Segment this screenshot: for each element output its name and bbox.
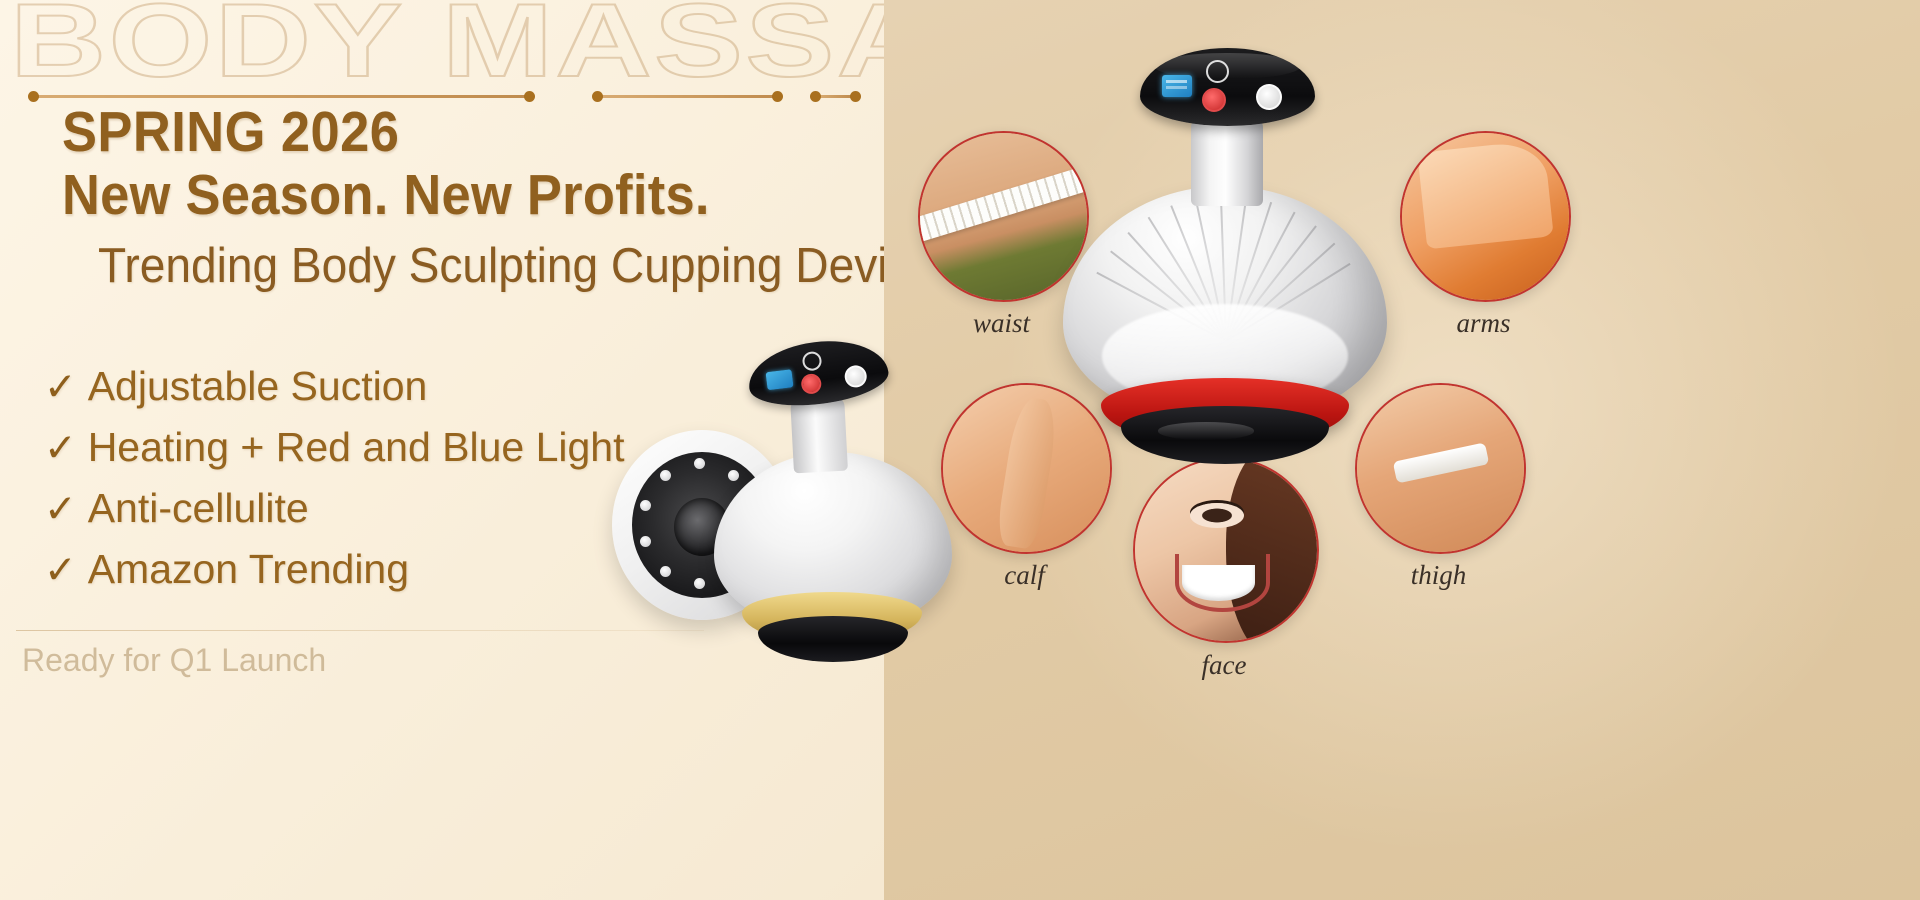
divider-segment [600, 95, 778, 98]
secondary-device-neck [790, 395, 848, 474]
product-tagline: Trending Body Sculpting Cupping Device [98, 238, 888, 294]
led-icon [660, 566, 671, 577]
face-photo [1135, 459, 1317, 641]
promo-banner: BODY MASSAGER SPRING 2026 New Season. Ne… [0, 0, 1920, 900]
lips-shape [1175, 554, 1270, 613]
red-light-button-icon [800, 373, 822, 395]
feature-label: Anti-cellulite [88, 478, 309, 539]
headline-block: SPRING 2026 New Season. New Profits. [62, 103, 816, 224]
thigh-band [1393, 442, 1489, 483]
zone-photo-arms [1400, 131, 1571, 302]
divider-dot [592, 91, 603, 102]
divider-dot [28, 91, 39, 102]
power-button-icon [1206, 60, 1229, 83]
red-light-button-icon [1202, 88, 1226, 112]
divider-dot [772, 91, 783, 102]
feature-label: Amazon Trending [88, 539, 409, 600]
feature-label: Heating + Red and Blue Light [88, 417, 625, 478]
divider-dot [524, 91, 535, 102]
led-icon [640, 536, 651, 547]
zone-label-arms: arms [1400, 308, 1567, 339]
hair-shape [1226, 457, 1319, 643]
main-device-control-panel [1140, 48, 1315, 126]
divider-dot [850, 91, 861, 102]
secondary-device-control-panel [745, 334, 892, 413]
main-device-base [1121, 406, 1329, 464]
main-device-neck [1191, 114, 1263, 206]
zone-label-thigh: thigh [1355, 560, 1522, 591]
zone-photo-face [1133, 457, 1319, 643]
eye-shape [1190, 503, 1245, 528]
zone-label-calf: calf [941, 560, 1108, 591]
lcd-screen-icon [1162, 75, 1192, 97]
power-button-icon [801, 351, 822, 372]
product-device-main [1055, 48, 1395, 468]
footer-note: Ready for Q1 Launch [22, 642, 326, 679]
led-icon [660, 470, 671, 481]
arm-shape [1417, 140, 1553, 250]
secondary-device-base [758, 616, 908, 662]
check-icon: ✓ [44, 481, 77, 539]
check-icon: ✓ [44, 542, 77, 600]
mode-button-icon [843, 364, 868, 389]
footer-rule [16, 630, 704, 631]
mode-button-icon [1256, 84, 1282, 110]
feature-label: Adjustable Suction [88, 356, 428, 417]
lcd-screen-icon [766, 369, 794, 390]
headline-season: SPRING 2026 [62, 103, 816, 162]
check-icon: ✓ [44, 420, 77, 478]
feature-item: ✓ Adjustable Suction [44, 356, 744, 417]
check-icon: ✓ [44, 359, 77, 417]
divider-segment [36, 95, 528, 98]
arms-photo [1402, 133, 1569, 300]
headline-slogan: New Season. New Profits. [62, 166, 816, 225]
leg-shape [995, 396, 1061, 551]
led-icon [640, 500, 651, 511]
divider-dot [810, 91, 821, 102]
zone-label-face: face [1133, 650, 1315, 681]
product-device-secondary [700, 330, 960, 690]
divider-segment [818, 95, 852, 98]
